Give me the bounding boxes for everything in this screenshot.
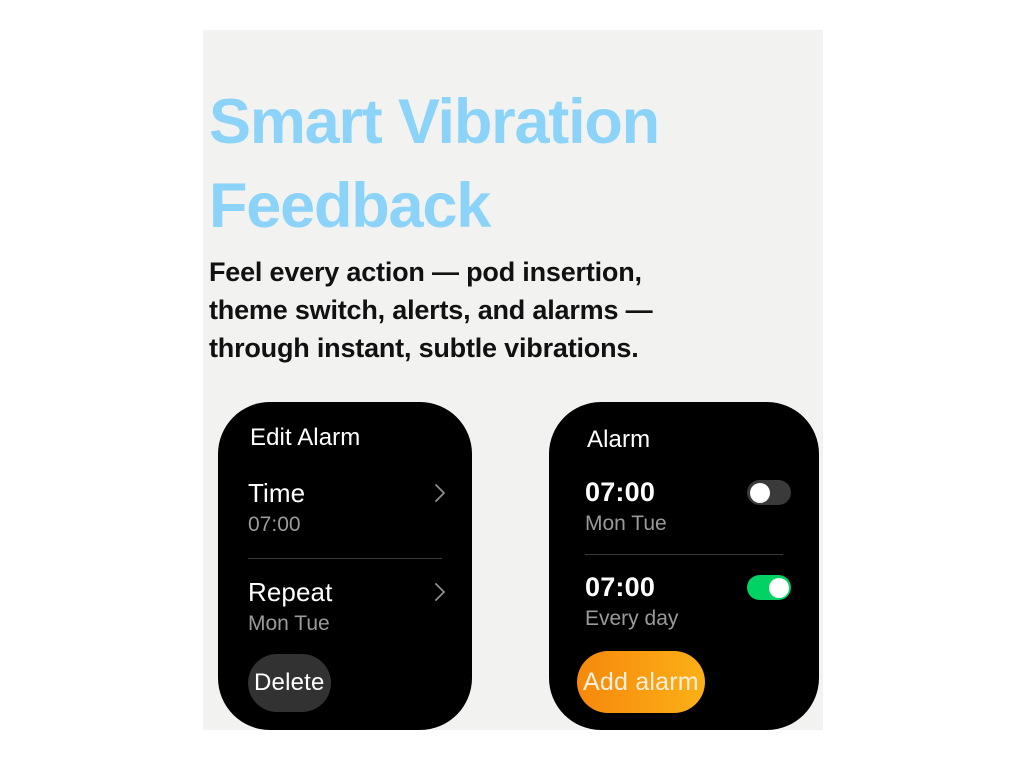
alarm-list-watch-card: Alarm 07:00 Mon Tue 07:00 Every day [549,402,819,730]
add-alarm-button[interactable]: Add alarm [577,651,705,713]
page-title: Smart Vibration Feedback [209,80,809,248]
setting-label-repeat: Repeat [248,577,424,607]
alarm-list-item[interactable]: 07:00 Every day [585,571,797,633]
promo-page: Smart Vibration Feedback Feel every acti… [0,0,1024,768]
setting-value-repeat: Mon Tue [248,610,424,638]
alarm-days: Every day [585,605,797,633]
alarm-toggle-on[interactable] [747,575,791,600]
alarm-toggle-off[interactable] [747,480,791,505]
card-divider [248,558,442,559]
card-divider [585,554,783,555]
setting-label-time: Time [248,478,424,508]
toggle-knob [769,578,789,598]
edit-alarm-title: Edit Alarm [250,424,450,452]
alarm-days: Mon Tue [585,510,797,538]
setting-row-time[interactable]: Time 07:00 [248,478,450,539]
toggle-knob [750,483,770,503]
setting-row-repeat[interactable]: Repeat Mon Tue [248,577,450,638]
hero-description: Feel every action — pod insertion, theme… [209,253,799,367]
chevron-right-icon [432,482,448,504]
watch-previews: Edit Alarm Time 07:00 Repeat Mon Tue [203,402,823,730]
delete-button[interactable]: Delete [248,654,331,712]
alarm-list-item[interactable]: 07:00 Mon Tue [585,476,797,538]
chevron-right-icon [432,581,448,603]
edit-alarm-watch-card: Edit Alarm Time 07:00 Repeat Mon Tue [218,402,472,730]
alarm-list-title: Alarm [587,426,797,454]
setting-value-time: 07:00 [248,511,424,539]
content-panel: Smart Vibration Feedback Feel every acti… [203,30,823,730]
